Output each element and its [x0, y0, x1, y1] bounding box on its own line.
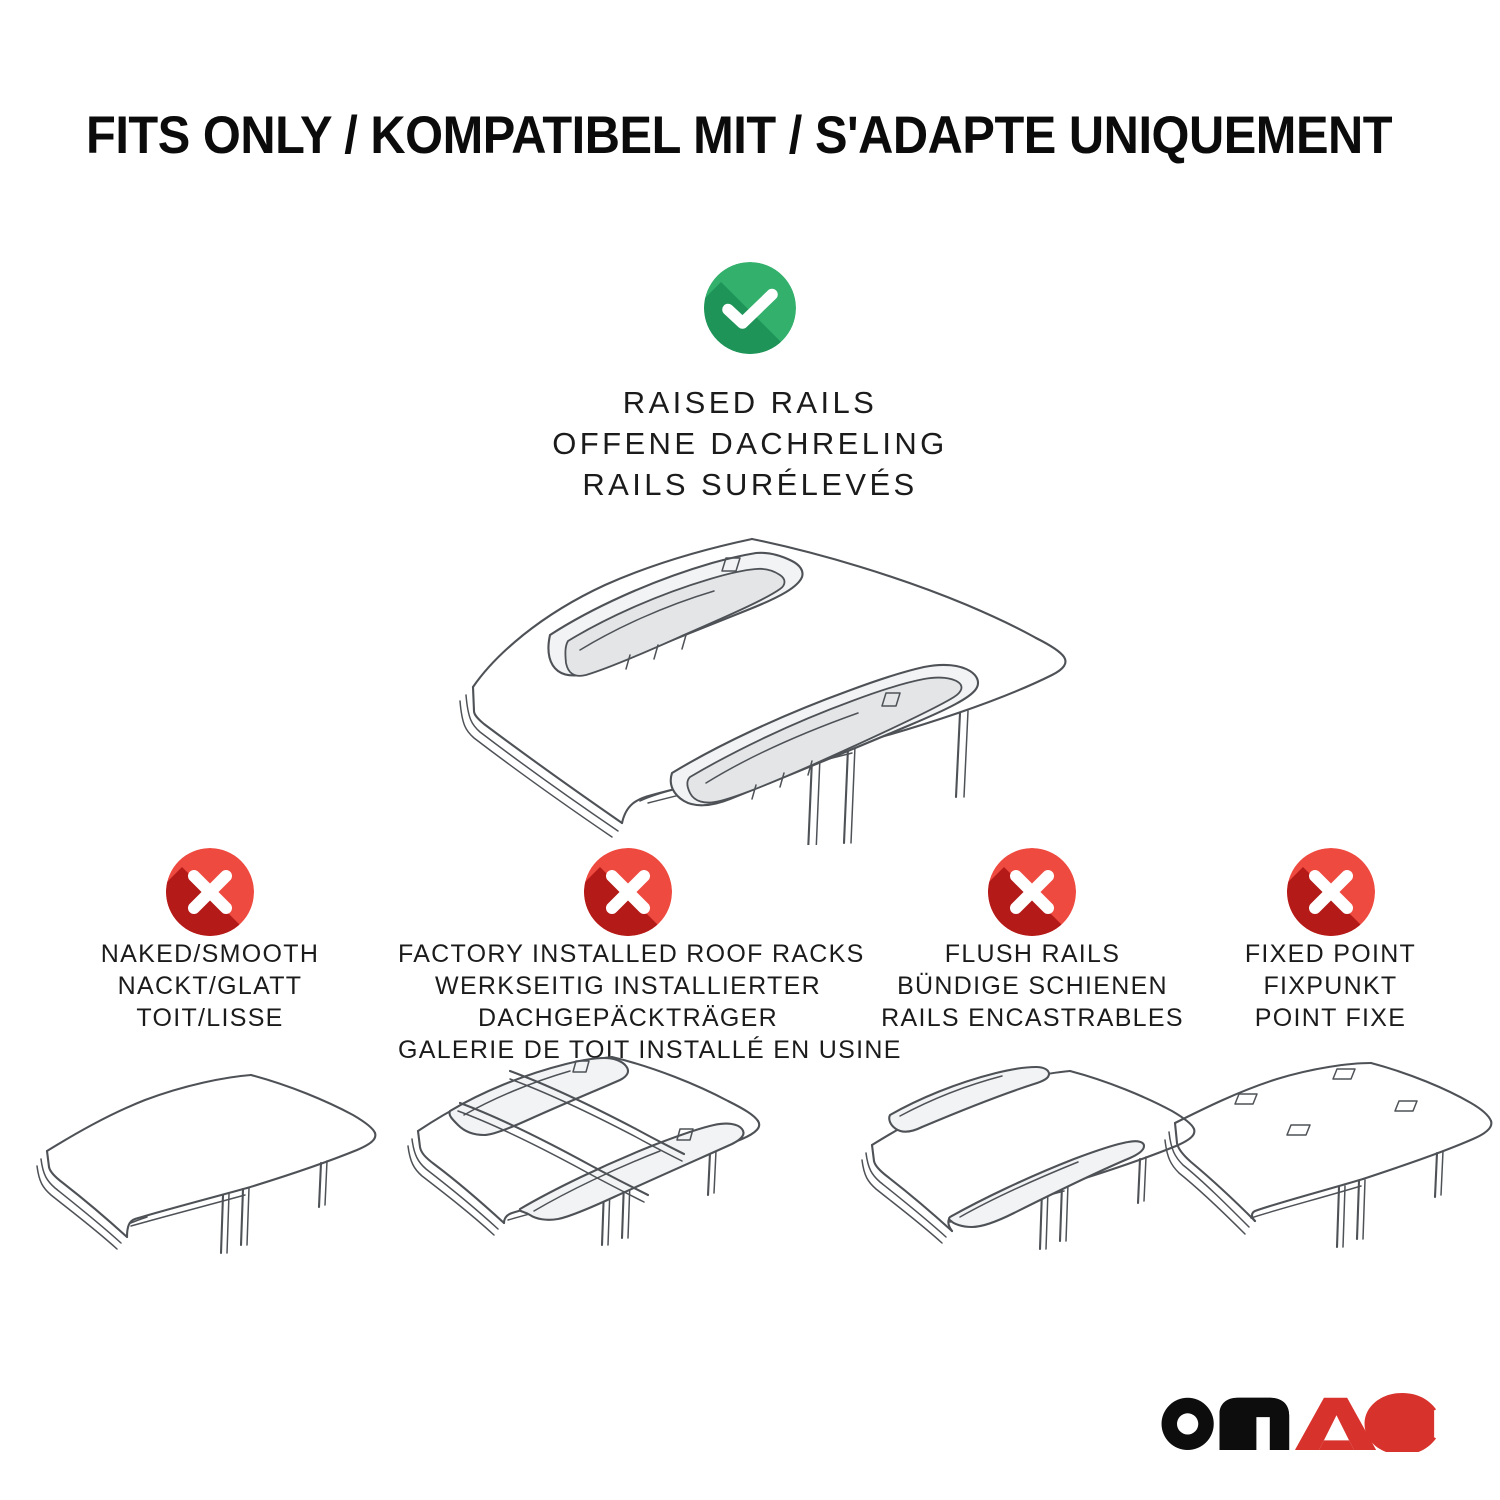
incompatible-grid: NAKED/SMOOTH NACKT/GLATT TOIT/LISSE — [0, 830, 1500, 1300]
compatible-line-3: RAILS SURÉLEVÉS — [430, 464, 1070, 505]
caption-line-2: WERKSEITIG INSTALLIERTER — [398, 970, 858, 1002]
caption-line-1: FLUSH RAILS — [860, 938, 1205, 970]
omac-logo — [1148, 1390, 1438, 1452]
caption-line-1: NAKED/SMOOTH — [35, 938, 385, 970]
caption-line-3: TOIT/LISSE — [35, 1002, 385, 1034]
check-glyph — [704, 262, 796, 354]
x-circle-icon — [584, 848, 672, 936]
x-circle-icon — [988, 848, 1076, 936]
compatible-caption: RAISED RAILS OFFENE DACHRELING RAILS SUR… — [430, 382, 1070, 506]
compatible-line-1: RAISED RAILS — [430, 382, 1070, 423]
caption-line-3: POINT FIXE — [1163, 1002, 1498, 1034]
fitment-infographic: FITS ONLY / KOMPATIBEL MIT / S'ADAPTE UN… — [0, 0, 1500, 1500]
page-title: FITS ONLY / KOMPATIBEL MIT / S'ADAPTE UN… — [86, 108, 1310, 164]
x-glyph — [166, 848, 254, 936]
x-glyph — [988, 848, 1076, 936]
incompatible-caption: FLUSH RAILS BÜNDIGE SCHIENEN RAILS ENCAS… — [860, 938, 1205, 1034]
car-roof-fixed-point-illustration — [1163, 1055, 1498, 1265]
incompatible-caption: FIXED POINT FIXPUNKT POINT FIXE — [1163, 938, 1498, 1034]
caption-line-3: DACHGEPÄCKTRÄGER — [398, 1002, 858, 1034]
x-glyph — [584, 848, 672, 936]
incompatible-caption: NAKED/SMOOTH NACKT/GLATT TOIT/LISSE — [35, 938, 385, 1034]
compatible-line-2: OFFENE DACHRELING — [430, 423, 1070, 464]
caption-line-1: FIXED POINT — [1163, 938, 1498, 970]
car-roof-flush-rails-illustration — [860, 1055, 1205, 1265]
caption-line-2: BÜNDIGE SCHIENEN — [860, 970, 1205, 1002]
car-roof-factory-racks-illustration — [398, 1045, 858, 1260]
x-circle-icon — [166, 848, 254, 936]
x-glyph — [1287, 848, 1375, 936]
omac-logo-mark — [1148, 1390, 1438, 1452]
caption-line-3: RAILS ENCASTRABLES — [860, 1002, 1205, 1034]
car-roof-naked-smooth-illustration — [35, 1055, 385, 1265]
check-circle-icon — [704, 262, 796, 354]
car-roof-with-raised-rails-illustration — [400, 505, 1120, 845]
caption-line-2: NACKT/GLATT — [35, 970, 385, 1002]
caption-line-1: FACTORY INSTALLED ROOF RACKS — [398, 938, 858, 970]
x-circle-icon — [1287, 848, 1375, 936]
caption-line-2: FIXPUNKT — [1163, 970, 1498, 1002]
